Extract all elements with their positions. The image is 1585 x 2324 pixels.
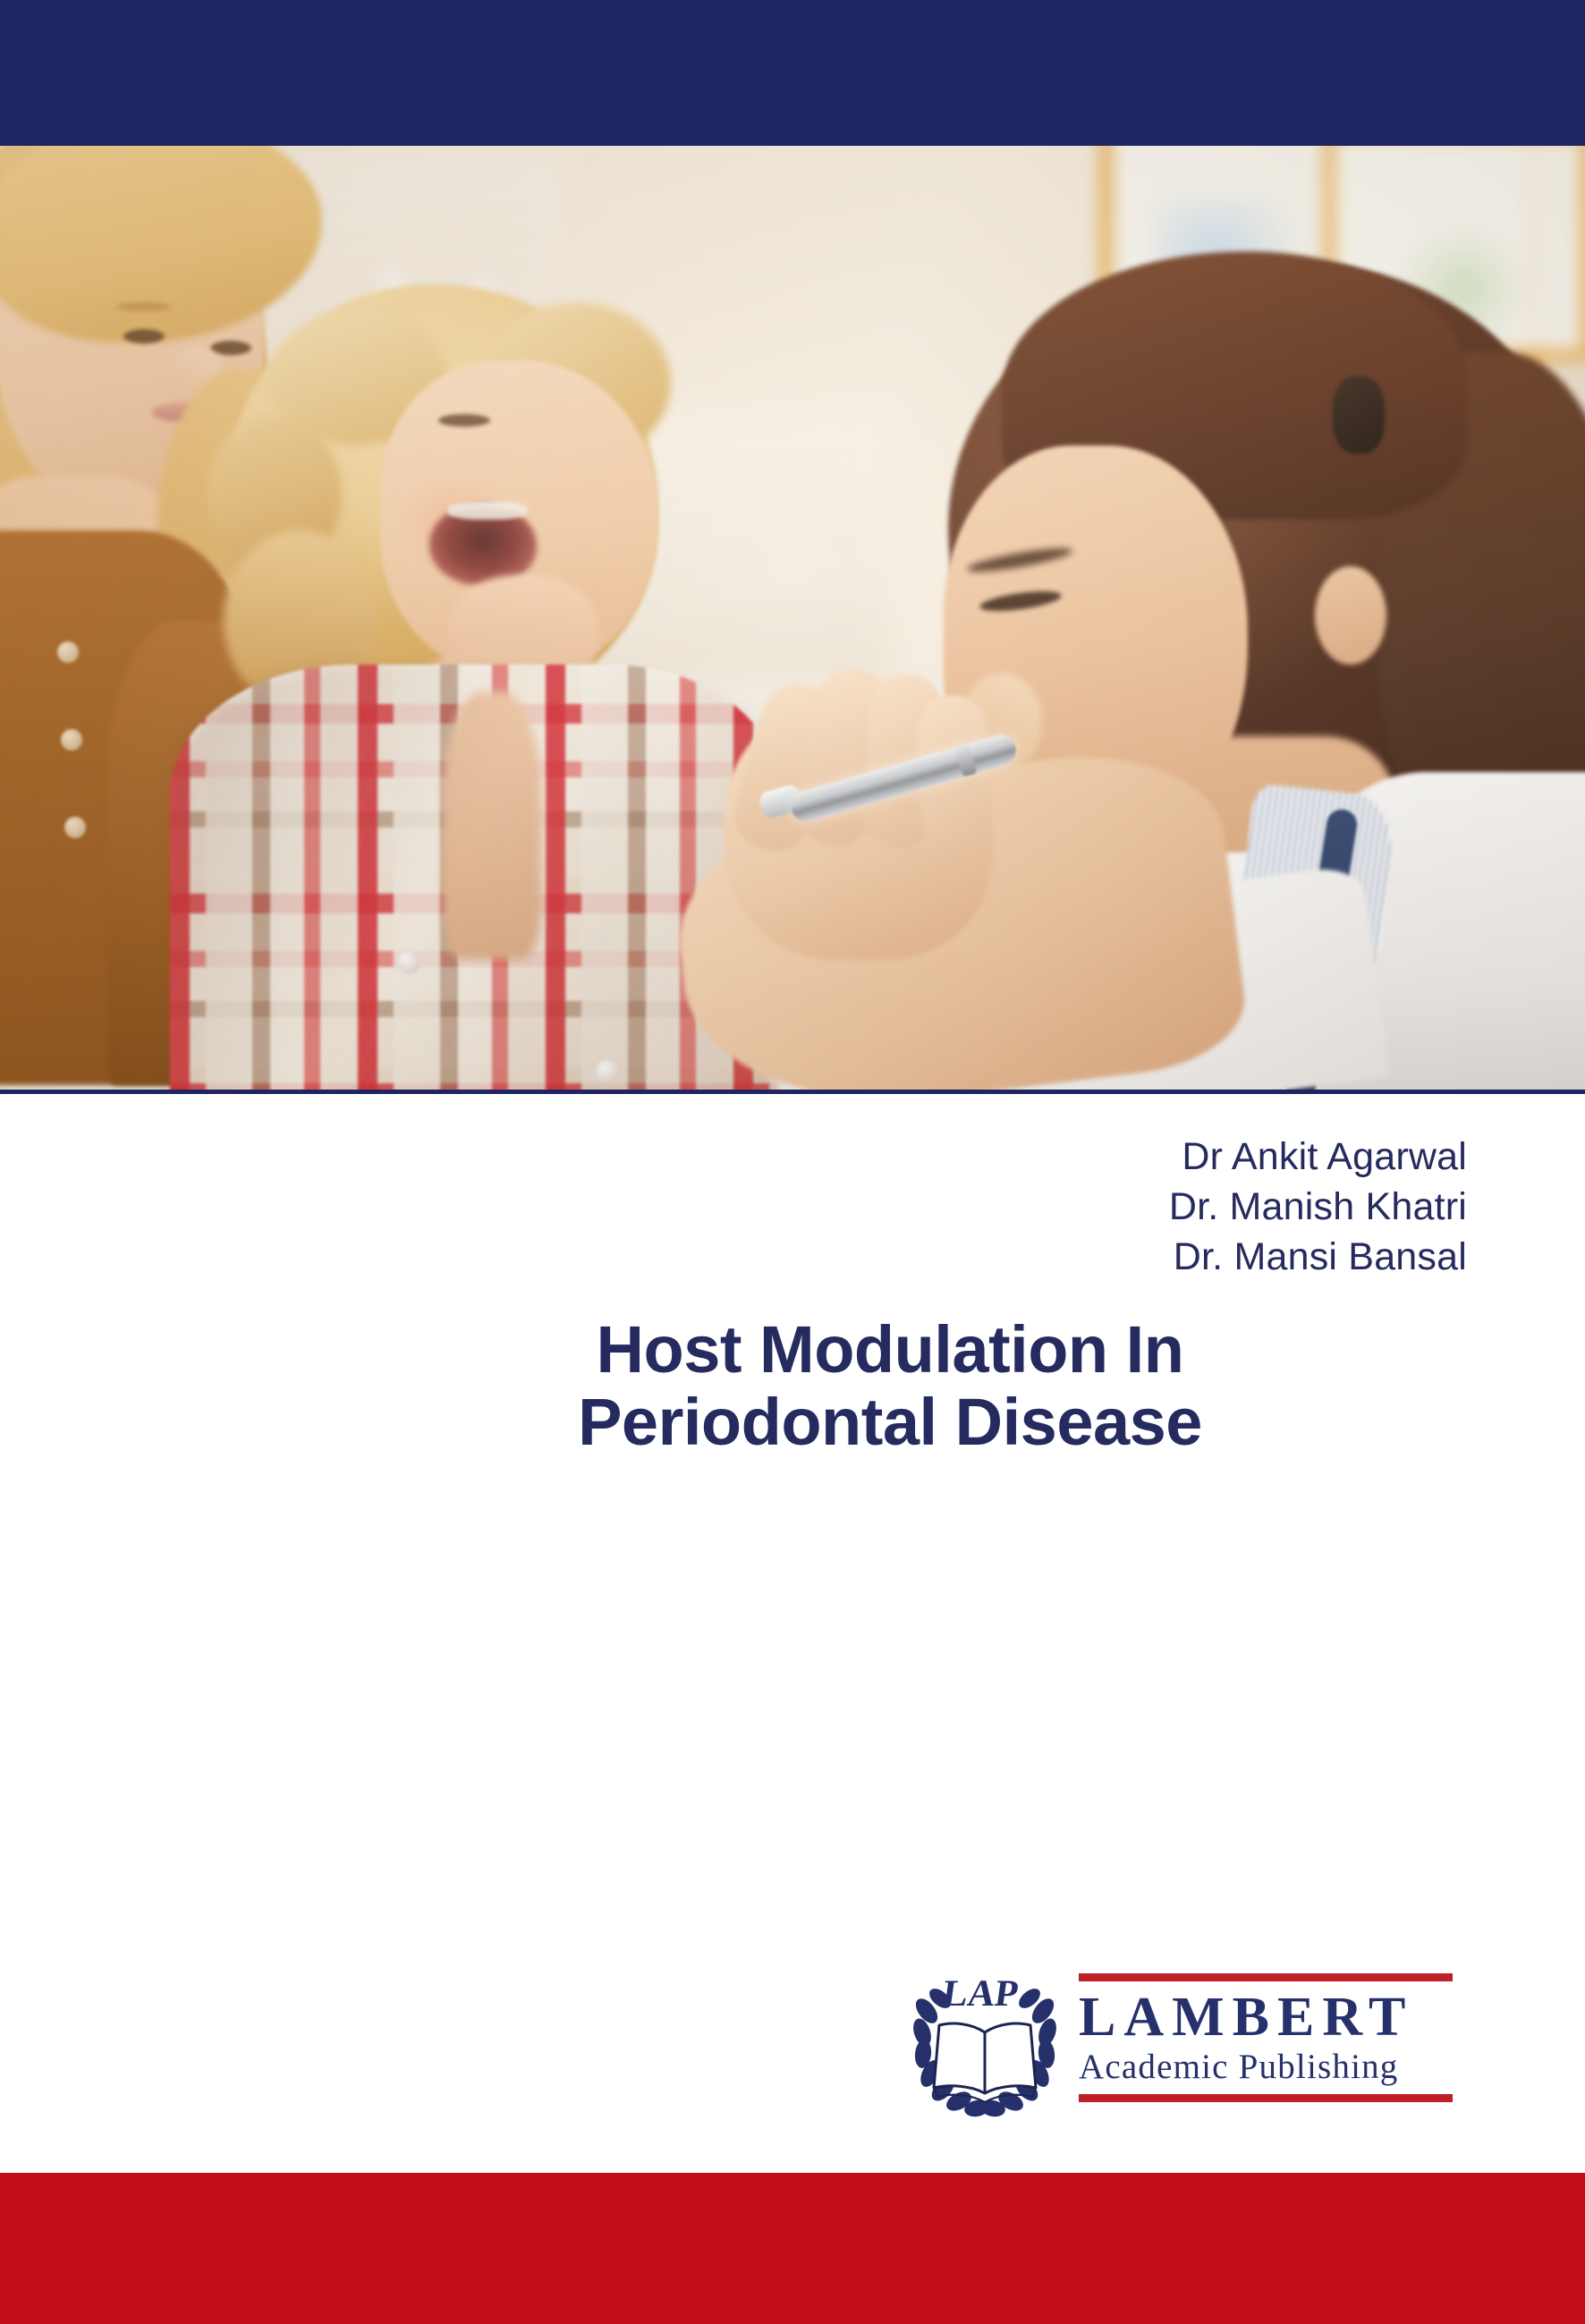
book-title: Host Modulation In Periodontal Disease [313,1313,1467,1459]
book-cover: Dr Ankit Agarwal Dr. Manish Khatri Dr. M… [0,0,1585,2324]
author-name: Dr. Mansi Bansal [1169,1233,1467,1283]
top-color-band [0,0,1585,146]
text-area: Dr Ankit Agarwal Dr. Manish Khatri Dr. M… [0,1094,1585,2173]
mother-eyebrow [116,302,172,311]
cardigan-button [64,817,86,838]
title-line-2: Periodontal Disease [313,1386,1467,1458]
svg-text:LAP: LAP [940,1972,1021,2014]
author-name: Dr Ankit Agarwal [1169,1132,1467,1183]
logo-rule-top [1079,1973,1453,1981]
child-teeth [447,502,528,520]
logo-rule-bottom [1079,2094,1453,2102]
publisher-logo: LAP LAMBERT Academic Publishing [907,1963,1453,2119]
doctor-hair-tie [1333,377,1385,454]
mother-eye [210,341,251,355]
shirt-button [397,951,420,974]
publisher-tagline: Academic Publishing [1079,2049,1453,2086]
mother-eye [123,329,165,344]
author-list: Dr Ankit Agarwal Dr. Manish Khatri Dr. M… [1169,1132,1467,1283]
cardigan-button [61,729,82,751]
cover-photo [0,146,1585,1094]
child-eye [438,414,490,427]
publisher-wordmark: LAMBERT Academic Publishing [1079,1973,1453,2102]
title-line-1: Host Modulation In [313,1313,1467,1386]
author-name: Dr. Manish Khatri [1169,1183,1467,1233]
publisher-name: LAMBERT [1079,1989,1453,2046]
doctor-ear [1315,566,1386,665]
shirt-shading [170,665,778,1094]
bottom-color-band [0,2173,1585,2324]
shirt-button [596,1060,619,1083]
laurel-wreath-open-book-icon: LAP [907,1963,1064,2119]
cardigan-button [57,641,79,663]
photo-bottom-rule [0,1090,1585,1094]
